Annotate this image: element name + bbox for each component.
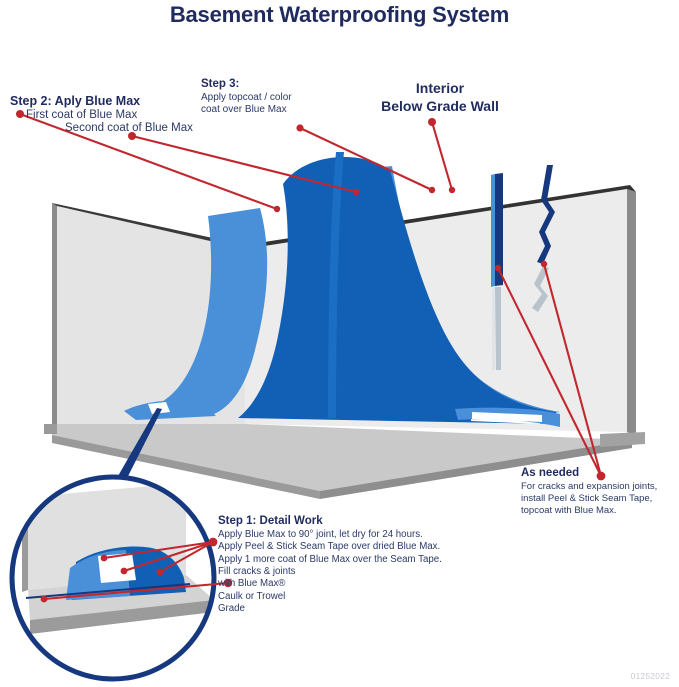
leader-dot-asneeded-joint-end [495,265,501,271]
leader-asneeded-joint [498,268,601,476]
leader-dot-step2-second-end [353,189,359,195]
asneeded-line-3: topcoat with Blue Max. [521,505,679,517]
fill-line-3: Caulk or Trowel [218,591,328,603]
label-fill-cracks: Fill cracks & joints with Blue Max® Caul… [218,566,328,616]
step1-line-3: Apply 1 more coat of Blue Max over the S… [218,554,463,566]
leader-interior [432,122,452,190]
step3-heading: Step 3: [201,78,292,92]
step3-line-1: Apply topcoat / color [201,92,292,104]
fill-line-4: Grade [218,603,328,615]
label-step-3: Step 3: Apply topcoat / color coat over … [201,78,292,116]
label-step-2: Step 2: Aply Blue Max First coat of Blue… [10,94,193,136]
asneeded-heading: As needed [521,466,679,481]
leader-dot-step1-b [121,568,128,575]
label-step-1: Step 1: Detail Work Apply Blue Max to 90… [218,514,463,566]
leader-step2-second [132,136,356,192]
leader-dot-interior [428,118,436,126]
leader-asneeded-crack [544,264,601,476]
leader-fill-cracks [44,583,228,599]
label-interior-below-grade-wall: Interior Below Grade Wall [355,80,525,115]
diagram-canvas: Basement Waterproofing System [0,0,679,687]
leader-dot-step2-first-end [274,206,280,212]
asneeded-line-1: For cracks and expansion joints, [521,481,679,493]
label-as-needed: As needed For cracks and expansion joint… [521,466,679,517]
leader-dot-interior-end [449,187,455,193]
fill-line-1: Fill cracks & joints [218,566,328,578]
step1-line-1: Apply Blue Max to 90° joint, let dry for… [218,529,463,541]
leader-dot-asneeded-crack-end [541,261,547,267]
step1-heading: Step 1: Detail Work [218,514,463,529]
leader-dot-step1-a [101,555,108,562]
step2-line-1: First coat of Blue Max [26,109,193,123]
interior-line-2: Below Grade Wall [355,98,525,116]
fill-line-2: with Blue Max® [218,578,328,590]
leader-dot-fill-end [41,596,48,603]
step2-heading: Step 2: Aply Blue Max [10,94,193,109]
interior-line-1: Interior [355,80,525,98]
leader-step1-a [104,542,213,558]
asneeded-line-2: install Peel & Stick Seam Tape, [521,493,679,505]
step1-line-2: Apply Peel & Stick Seam Tape over dried … [218,541,463,553]
leader-dot-step1 [209,538,218,547]
leader-dot-step1-c [157,569,164,576]
leader-dot-step3-end [429,187,435,193]
step2-line-2: Second coat of Blue Max [65,122,193,136]
leader-dot-step3 [296,124,303,131]
date-stamp: 01252022 [631,671,670,681]
leader-step3 [300,128,432,190]
step3-line-2: coat over Blue Max [201,104,292,116]
